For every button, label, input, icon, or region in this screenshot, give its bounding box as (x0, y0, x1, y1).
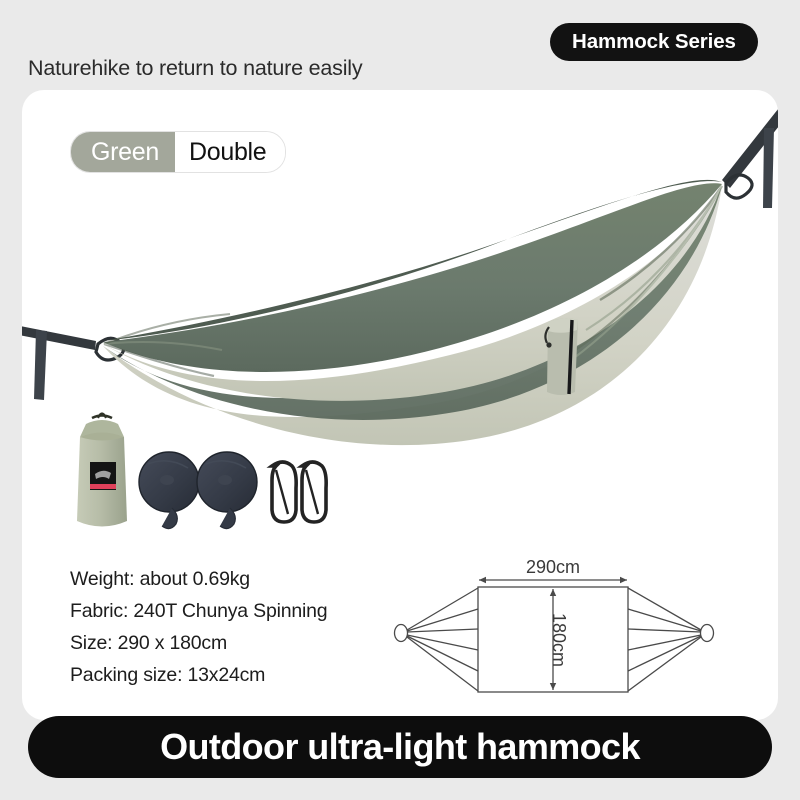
color-variant-badge[interactable]: Green Double (70, 131, 286, 173)
product-infographic: Hammock Series Naturehike to return to n… (0, 0, 800, 800)
accessory-carabiner-right (302, 462, 326, 522)
diagram-ring-right (701, 625, 714, 642)
accessory-carabiner-left (272, 462, 296, 522)
suspension-strap-left (19, 326, 96, 400)
spec-size: Size: 290 x 180cm (70, 632, 327, 655)
hammock-side-pocket (545, 318, 578, 395)
suspension-strap-right (722, 104, 790, 208)
product-title: Outdoor ultra-light hammock (160, 726, 640, 768)
spec-list: Weight: about 0.69kg Fabric: 240T Chunya… (70, 568, 327, 687)
diagram-height-label: 180cm (549, 613, 569, 667)
diagram-suspension-lines-right (628, 588, 701, 691)
accessory-stuff-sack (77, 414, 127, 527)
diagram-width-label: 290cm (526, 557, 580, 577)
product-title-banner: Outdoor ultra-light hammock (28, 716, 772, 778)
capacity-variant-name: Double (175, 132, 285, 172)
diagram-width-arrow (479, 577, 627, 583)
diagram-ring-left (395, 625, 408, 642)
spec-fabric: Fabric: 240T Chunya Spinning (70, 600, 327, 623)
color-variant-name: Green (71, 132, 175, 172)
diagram-suspension-lines-left (407, 588, 478, 691)
spec-packing-size: Packing size: 13x24cm (70, 664, 327, 687)
accessory-tree-strap-coil-left (139, 452, 199, 529)
spec-weight: Weight: about 0.69kg (70, 568, 327, 591)
accessory-tree-strap-coil-right (197, 452, 257, 529)
